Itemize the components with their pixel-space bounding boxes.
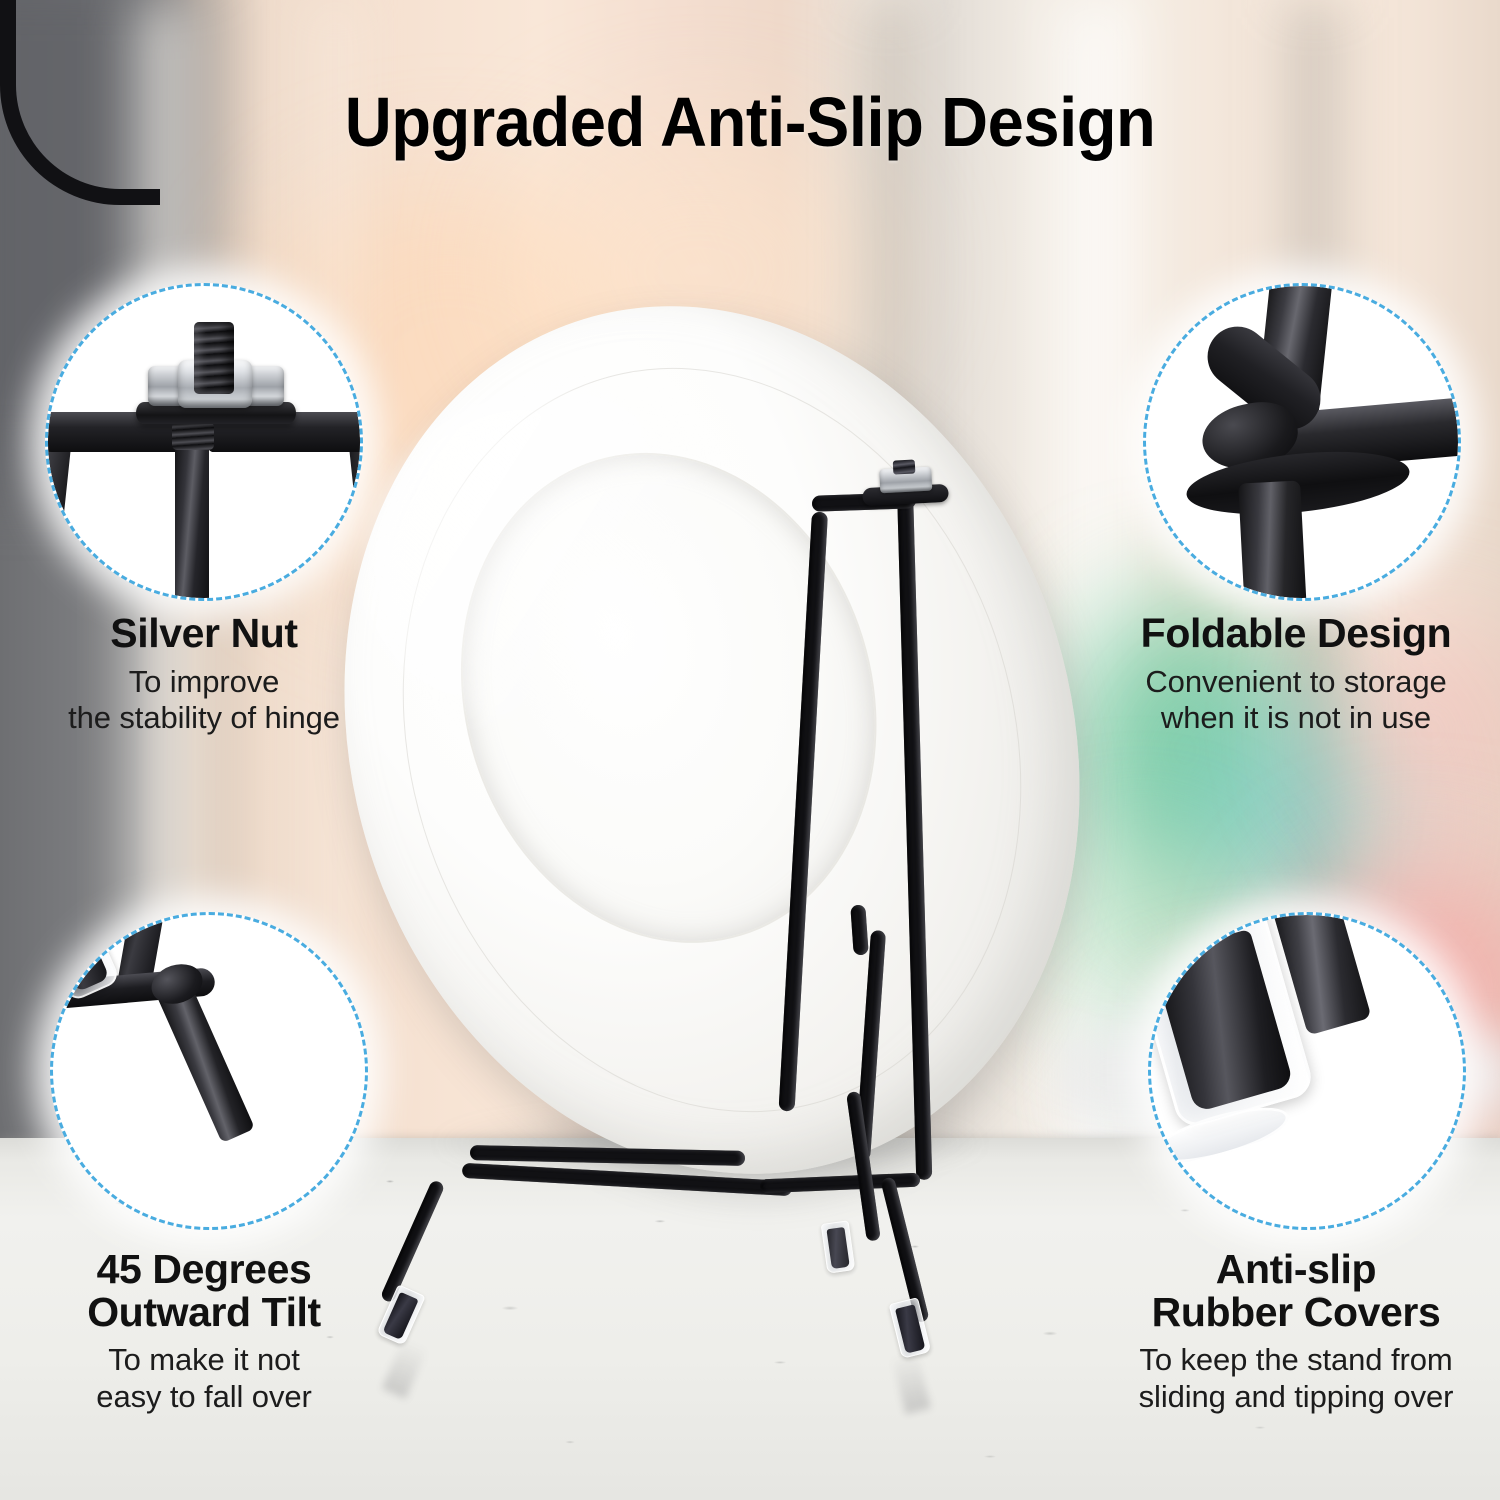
feature-silver-nut-caption: Silver Nut To improve the stability of h…: [0, 612, 408, 737]
feature-silver-nut-circle: [45, 283, 363, 601]
feature-subtitle-line: Convenient to storage: [1092, 664, 1500, 701]
feature-title: Foldable Design: [1092, 612, 1500, 655]
hinge-lower-tube: [1238, 480, 1308, 598]
feature-title-line: 45 Degrees: [0, 1248, 408, 1291]
feature-foldable-design-circle: [1143, 283, 1461, 601]
feature-subtitle: To make it not easy to fall over: [0, 1342, 408, 1415]
feature-rubber-covers-caption: Anti-slip Rubber Covers To keep the stan…: [1092, 1248, 1500, 1415]
feature-rubber-covers-circle: [1148, 912, 1466, 1230]
vertical-bolt-stem: [175, 426, 209, 598]
feature-subtitle-line: To make it not: [0, 1342, 408, 1379]
hinge-joint-closeup-illustration: [1146, 286, 1458, 598]
feature-subtitle-line: To improve: [0, 664, 408, 701]
feature-title: Silver Nut: [0, 612, 408, 655]
feature-subtitle: To keep the stand from sliding and tippi…: [1092, 1342, 1500, 1415]
tilted-leg-closeup-illustration: [53, 915, 365, 1227]
feature-outward-tilt-caption: 45 Degrees Outward Tilt To make it not e…: [0, 1248, 408, 1415]
background-warm-glow-2: [520, 120, 880, 420]
feature-outward-tilt-circle: [50, 912, 368, 1230]
feature-title-line: Anti-slip: [1092, 1248, 1500, 1291]
feature-subtitle: To improve the stability of hinge: [0, 664, 408, 737]
feature-subtitle: Convenient to storage when it is not in …: [1092, 664, 1500, 737]
feature-foldable-design-caption: Foldable Design Convenient to storage wh…: [1092, 612, 1500, 737]
feature-subtitle-line: sliding and tipping over: [1092, 1379, 1500, 1416]
feature-subtitle-line: To keep the stand from: [1092, 1342, 1500, 1379]
page-title: Upgraded Anti-Slip Design: [53, 82, 1448, 162]
rubber-cover-closeup-illustration: [1151, 915, 1463, 1227]
feature-title-line: Outward Tilt: [0, 1291, 408, 1334]
feature-title: 45 Degrees Outward Tilt: [0, 1248, 408, 1333]
feature-subtitle-line: easy to fall over: [0, 1379, 408, 1416]
feature-subtitle-line: when it is not in use: [1092, 700, 1500, 737]
bolt-thread-lower: [172, 422, 214, 450]
feature-title-line: Rubber Covers: [1092, 1291, 1500, 1334]
threaded-bolt-top: [194, 322, 234, 394]
feature-subtitle-line: the stability of hinge: [0, 700, 408, 737]
feature-title: Anti-slip Rubber Covers: [1092, 1248, 1500, 1333]
silver-nut-closeup-illustration: [48, 286, 360, 598]
